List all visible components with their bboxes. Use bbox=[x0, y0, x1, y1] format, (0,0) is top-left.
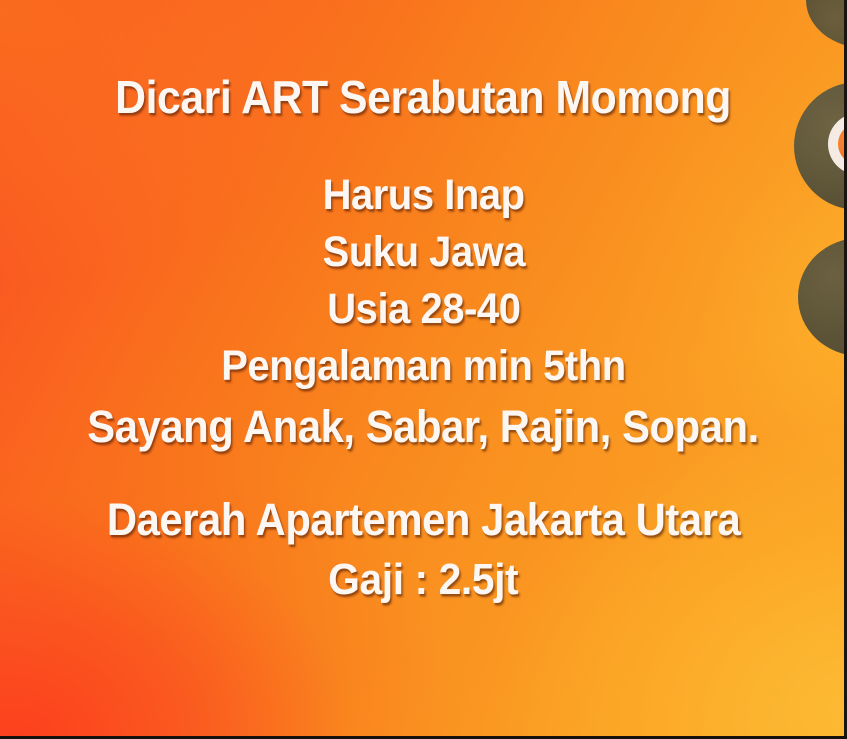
requirement-item-traits: Sayang Anak, Sabar, Rajin, Sopan. bbox=[88, 404, 760, 449]
title-body-spacer bbox=[423, 120, 424, 174]
location-text: Daerah Apartemen Jakarta Utara bbox=[107, 497, 740, 542]
requirement-item-experience: Pengalaman min 5thn bbox=[221, 345, 625, 388]
body-footer-spacer bbox=[423, 449, 424, 497]
page-title: Dicari ART Serabutan Momong bbox=[116, 74, 732, 120]
requirement-item-age: Usia 28-40 bbox=[327, 288, 520, 331]
salary-text: Gaji : 2.5jt bbox=[328, 558, 518, 602]
requirement-item-ethnicity: Suku Jawa bbox=[322, 231, 525, 274]
job-ad-poster: Dicari ART Serabutan Momong Harus Inap S… bbox=[0, 0, 847, 739]
poster-text-content: Dicari ART Serabutan Momong Harus Inap S… bbox=[0, 0, 847, 739]
requirement-item-live-in: Harus Inap bbox=[322, 174, 524, 217]
